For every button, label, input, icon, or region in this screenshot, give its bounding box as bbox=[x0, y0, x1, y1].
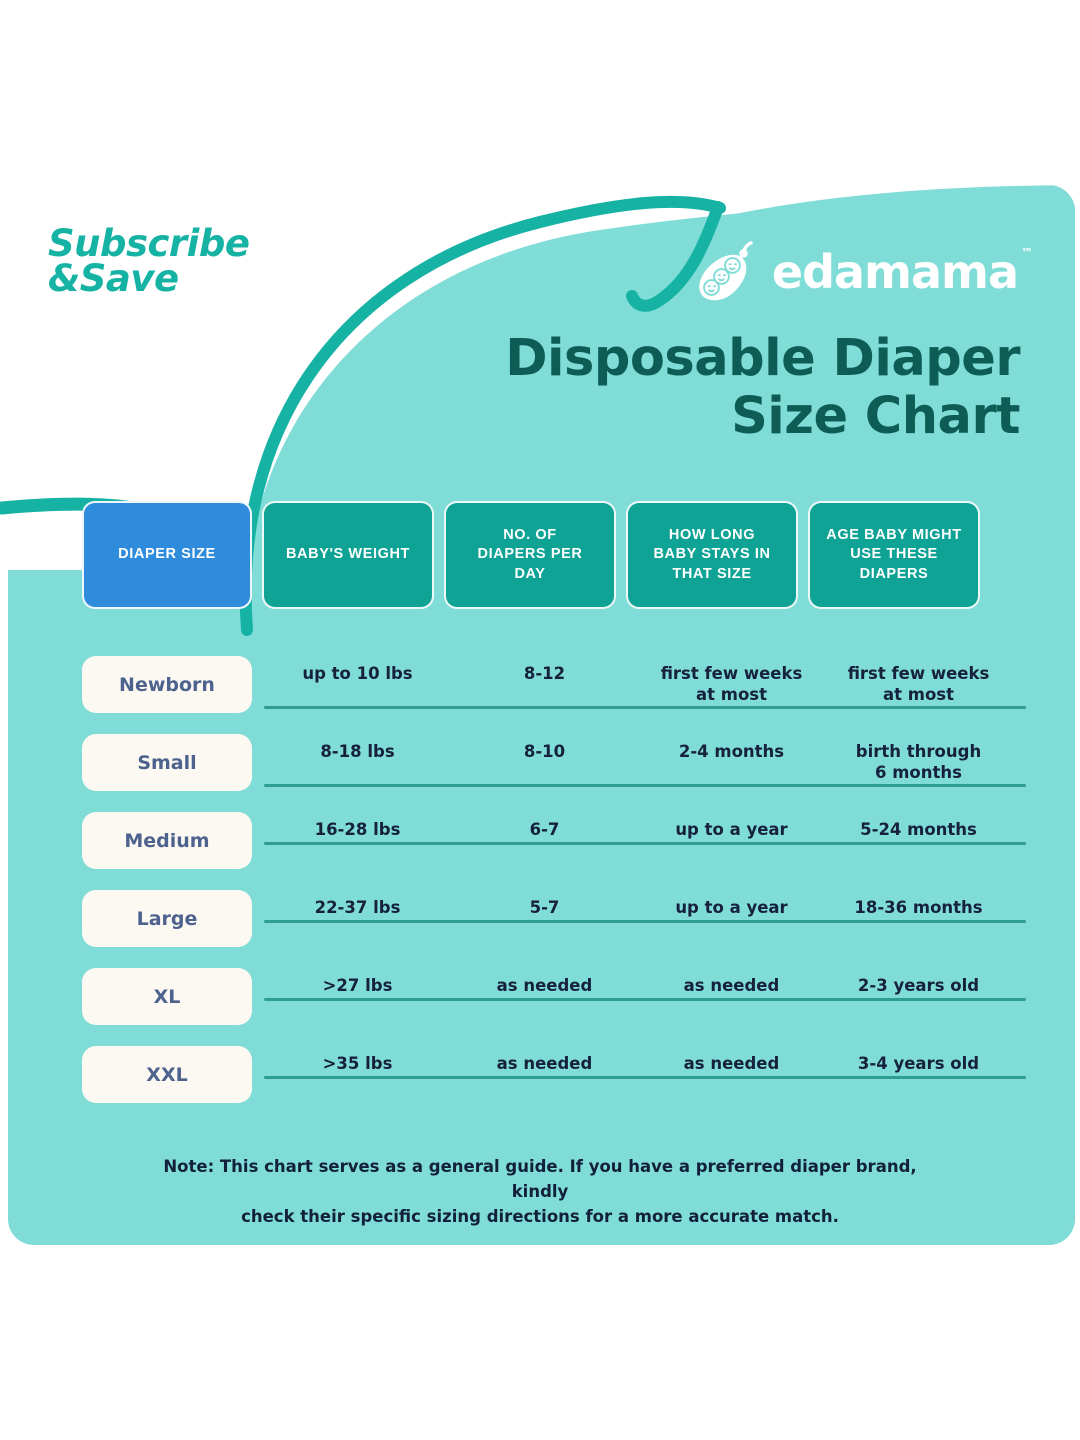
cell-line: first few weeks bbox=[638, 664, 825, 685]
column-header-label: DAY bbox=[478, 565, 583, 584]
column-header-label: DIAPERS PER bbox=[478, 545, 583, 564]
size-pill: Newborn bbox=[82, 656, 252, 713]
infographic-canvas: Subscribe &Save edamama ™ bbox=[0, 0, 1080, 1440]
size-label: Newborn bbox=[119, 674, 215, 696]
table-row: Newborn up to 10 lbs 8-12 first few week… bbox=[82, 650, 1012, 728]
cell-weight: 16-28 lbs bbox=[264, 806, 451, 841]
column-header-label: NO. OF bbox=[478, 526, 583, 545]
column-header-label: DIAPERS bbox=[826, 565, 961, 584]
page-title: Disposable Diaper Size Chart bbox=[400, 330, 1020, 445]
cell-line: at most bbox=[825, 685, 1012, 706]
size-pill: Medium bbox=[82, 812, 252, 869]
column-header-babys-weight: BABY'S WEIGHT bbox=[262, 501, 434, 609]
size-pill: Small bbox=[82, 734, 252, 791]
column-header-age-range: AGE BABY MIGHT USE THESE DIAPERS bbox=[808, 501, 980, 609]
row-divider bbox=[264, 1076, 1026, 1079]
cell-weight: 8-18 lbs bbox=[264, 728, 451, 783]
cell-per-day: 8-12 bbox=[451, 650, 638, 705]
table-row: Large 22-37 lbs 5-7 up to a year 18-36 m… bbox=[82, 884, 1012, 962]
cell-duration: as needed bbox=[638, 1040, 825, 1075]
trademark-symbol: ™ bbox=[1021, 247, 1032, 259]
brand-name: edamama bbox=[772, 245, 1018, 299]
column-header-label: BABY STAYS IN bbox=[653, 545, 770, 564]
cell-per-day: 8-10 bbox=[451, 728, 638, 783]
cell-per-day: as needed bbox=[451, 1040, 638, 1075]
cell-age: birth through 6 months bbox=[825, 728, 1012, 783]
table-row: XXL >35 lbs as needed as needed 3-4 year… bbox=[82, 1040, 1012, 1118]
row-cells: 8-18 lbs 8-10 2-4 months birth through 6… bbox=[264, 728, 1012, 783]
cell-duration: up to a year bbox=[638, 806, 825, 841]
footnote-line-1: Note: This chart serves as a general gui… bbox=[140, 1155, 940, 1205]
size-label: XXL bbox=[146, 1064, 187, 1086]
row-divider bbox=[264, 784, 1026, 787]
column-header-diaper-size: DIAPER SIZE bbox=[82, 501, 252, 609]
cell-duration: 2-4 months bbox=[638, 728, 825, 783]
cell-age: first few weeks at most bbox=[825, 650, 1012, 705]
cell-weight: 22-37 lbs bbox=[264, 884, 451, 919]
cell-line: 6 months bbox=[825, 763, 1012, 784]
cell-line: at most bbox=[638, 685, 825, 706]
row-cells: >27 lbs as needed as needed 2-3 years ol… bbox=[264, 962, 1012, 997]
cell-line: birth through bbox=[825, 742, 1012, 763]
column-header-label: THAT SIZE bbox=[653, 565, 770, 584]
column-header-diapers-per-day: NO. OF DIAPERS PER DAY bbox=[444, 501, 616, 609]
pea-pod-icon bbox=[696, 238, 758, 306]
row-divider bbox=[264, 842, 1026, 845]
size-label: Large bbox=[137, 908, 198, 930]
cell-duration: up to a year bbox=[638, 884, 825, 919]
cell-per-day: as needed bbox=[451, 962, 638, 997]
cell-age: 2-3 years old bbox=[825, 962, 1012, 997]
size-pill: XXL bbox=[82, 1046, 252, 1103]
cell-age: 5-24 months bbox=[825, 806, 1012, 841]
table-header-row: DIAPER SIZE BABY'S WEIGHT NO. OF DIAPERS… bbox=[82, 501, 980, 609]
size-label: Small bbox=[137, 752, 196, 774]
cell-weight: >35 lbs bbox=[264, 1040, 451, 1075]
cell-weight: >27 lbs bbox=[264, 962, 451, 997]
column-header-label: HOW LONG bbox=[653, 526, 770, 545]
cell-duration: as needed bbox=[638, 962, 825, 997]
cell-age: 18-36 months bbox=[825, 884, 1012, 919]
table-row: Small 8-18 lbs 8-10 2-4 months birth thr… bbox=[82, 728, 1012, 806]
row-cells: >35 lbs as needed as needed 3-4 years ol… bbox=[264, 1040, 1012, 1075]
column-header-label: AGE BABY MIGHT bbox=[826, 526, 961, 545]
row-cells: up to 10 lbs 8-12 first few weeks at mos… bbox=[264, 650, 1012, 705]
size-pill: Large bbox=[82, 890, 252, 947]
title-line-2: Size Chart bbox=[400, 388, 1020, 446]
row-divider bbox=[264, 706, 1026, 709]
size-pill: XL bbox=[82, 968, 252, 1025]
cell-per-day: 6-7 bbox=[451, 806, 638, 841]
table-row: Medium 16-28 lbs 6-7 up to a year 5-24 m… bbox=[82, 806, 1012, 884]
column-header-time-in-size: HOW LONG BABY STAYS IN THAT SIZE bbox=[626, 501, 798, 609]
column-header-label: BABY'S WEIGHT bbox=[286, 545, 410, 564]
subscribe-and-save-badge: Subscribe &Save bbox=[48, 228, 278, 295]
table-body: Newborn up to 10 lbs 8-12 first few week… bbox=[82, 650, 1012, 1118]
subscribe-label: Subscribe bbox=[48, 228, 278, 261]
cell-line: first few weeks bbox=[825, 664, 1012, 685]
row-divider bbox=[264, 998, 1026, 1001]
row-cells: 16-28 lbs 6-7 up to a year 5-24 months bbox=[264, 806, 1012, 841]
title-line-1: Disposable Diaper bbox=[505, 329, 1020, 388]
footnote: Note: This chart serves as a general gui… bbox=[140, 1155, 940, 1229]
column-header-label: DIAPER SIZE bbox=[118, 545, 216, 564]
cell-age: 3-4 years old bbox=[825, 1040, 1012, 1075]
size-label: XL bbox=[154, 986, 181, 1008]
cell-duration: first few weeks at most bbox=[638, 650, 825, 705]
brand-wordmark: edamama ™ bbox=[772, 249, 1018, 295]
footnote-line-2: check their specific sizing directions f… bbox=[140, 1205, 940, 1230]
column-header-label: USE THESE bbox=[826, 545, 961, 564]
row-divider bbox=[264, 920, 1026, 923]
table-row: XL >27 lbs as needed as needed 2-3 years… bbox=[82, 962, 1012, 1040]
cell-per-day: 5-7 bbox=[451, 884, 638, 919]
cell-weight: up to 10 lbs bbox=[264, 650, 451, 705]
size-label: Medium bbox=[124, 830, 209, 852]
row-cells: 22-37 lbs 5-7 up to a year 18-36 months bbox=[264, 884, 1012, 919]
save-label: &Save bbox=[48, 263, 278, 296]
brand-logo: edamama ™ bbox=[696, 238, 1018, 306]
